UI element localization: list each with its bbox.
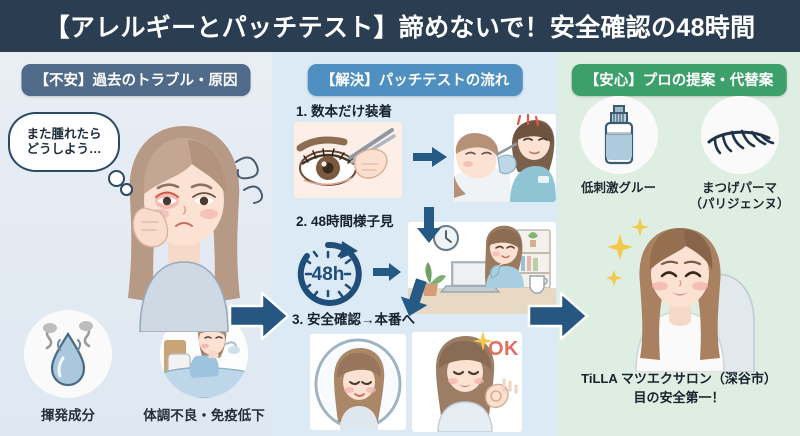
flow-arrow-1-icon <box>228 290 290 342</box>
badge-anxiety: 【不安】過去のトラブル・原因 <box>22 64 251 96</box>
infographic-poster: 【アレルギーとパッチテスト】諦めないで！安全確認の48時間 【不安】過去のトラブ… <box>0 0 800 436</box>
column-anxiety: 【不安】過去のトラブル・原因 また腫れたらどうしよう… <box>0 52 272 436</box>
step-2-inner-arrow-icon <box>372 262 402 287</box>
cause-label-illness: 体調不良・免疫低下 <box>143 404 265 424</box>
salon-name: TiLLA マツエクサロン（深谷市） <box>558 370 800 389</box>
columns-container: 【不安】過去のトラブル・原因 また腫れたらどうしよう… <box>0 52 800 436</box>
step-3-label: 3. 安全確認→本番へ <box>292 308 415 328</box>
step-1-inner-arrow-icon <box>412 146 448 173</box>
salon-slogan: 目の安全第一！ <box>558 389 800 408</box>
step-2-label: 2. 48時間様子見 <box>296 210 394 230</box>
svg-text:48h: 48h <box>312 264 345 285</box>
column-solution: 【解決】パッチテストの流れ 1. 数本だけ装着 <box>272 52 558 436</box>
option-label-lash-perm: まつげパーマ（パリジェンヌ） <box>689 181 789 212</box>
column-reassurance: 【安心】プロの提案・代替案 <box>558 52 800 436</box>
eyelash-icon <box>701 96 779 174</box>
step-1-label: 1. 数本だけ装着 <box>296 100 392 120</box>
sparkle-icon <box>472 330 494 352</box>
flow-arrow-2-icon <box>527 290 589 342</box>
step-3-mirror-check-image <box>310 334 406 430</box>
step-1-technician-image <box>454 114 556 202</box>
page-title: 【アレルギーとパッチテスト】諦めないで！安全確認の48時間 <box>45 8 756 44</box>
option-label-glue: 低刺激グルー <box>581 181 656 197</box>
option-lash-perm: まつげパーマ（パリジェンヌ） <box>679 96 800 212</box>
satisfied-client-illustration <box>596 212 762 372</box>
step-2-to-3-arrow-icon <box>400 278 430 323</box>
badge-solution: 【解決】パッチテストの流れ <box>308 64 523 96</box>
glue-bottle-icon <box>580 96 658 174</box>
option-low-irritation-glue: 低刺激グルー <box>558 96 679 212</box>
poster-title-bar: 【アレルギーとパッチテスト】諦めないで！安全確認の48時間 <box>0 0 800 52</box>
thought-bubble: また腫れたらどうしよう… <box>8 112 120 172</box>
cause-label-volatile: 揮発成分 <box>41 404 95 424</box>
thought-bubble-text: また腫れたらどうしよう… <box>26 127 101 158</box>
step-1-to-2-arrow-icon <box>416 206 442 249</box>
alternative-options-row: 低刺激グルー <box>558 96 800 212</box>
timer-48h-icon: 48h <box>292 238 364 310</box>
thought-bubble-dot-small <box>120 183 133 196</box>
step-1-eye-closeup-image <box>294 122 402 198</box>
badge-reassurance: 【安心】プロの提案・代替案 <box>572 64 787 96</box>
salon-footer: TiLLA マツエクサロン（深谷市） 目の安全第一！ <box>558 370 800 408</box>
